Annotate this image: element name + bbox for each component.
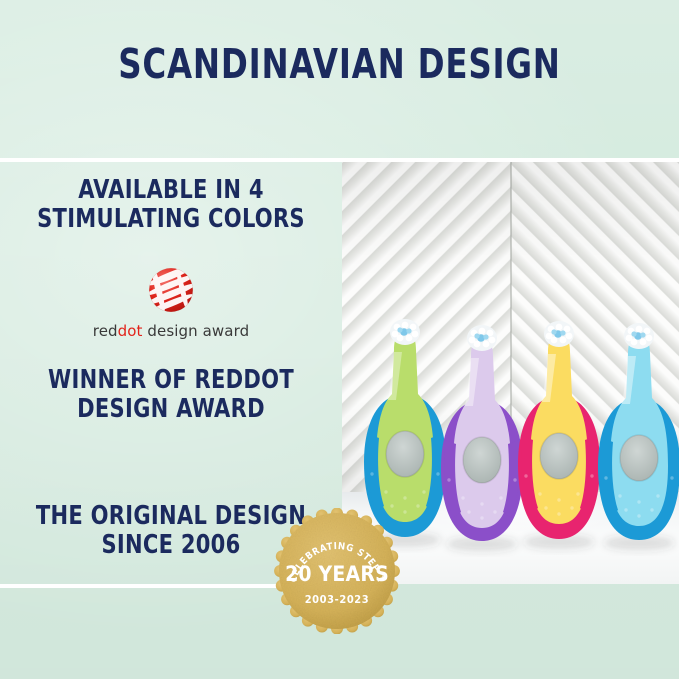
title-band: SCANDINAVIAN DESIGN: [0, 0, 679, 158]
reddot-wordmark: reddot design award: [0, 322, 342, 340]
lightblue-blue-toothbrush: [598, 323, 679, 550]
award-heading: WINNER OF REDDOT DESIGN AWARD: [17, 366, 325, 425]
award-heading-line2: DESIGN AWARD: [17, 395, 325, 424]
anniversary-badge: CELEBRATING STEP 1 20 YEARS 2003-2023: [274, 508, 400, 634]
reddot-wordmark-rest: design award: [143, 322, 250, 340]
colors-heading-line1: AVAILABLE IN 4: [17, 176, 325, 205]
lavender-purple-toothbrush: [441, 325, 523, 551]
product-infographic: SCANDINAVIAN DESIGN AVAILABLE IN 4 STIMU…: [0, 0, 679, 679]
page-title: SCANDINAVIAN DESIGN: [41, 44, 639, 85]
reddot-sphere-icon: [145, 264, 197, 316]
reddot-wordmark-dot: dot: [118, 322, 143, 340]
colors-heading: AVAILABLE IN 4 STIMULATING COLORS: [17, 176, 325, 235]
colors-heading-line2: STIMULATING COLORS: [17, 205, 325, 234]
yellow-pink-toothbrush: [518, 321, 600, 549]
badge-date-range: 2003-2023: [305, 593, 370, 606]
badge-years-value: 20 YEARS: [285, 562, 389, 586]
reddot-wordmark-red: red: [93, 322, 118, 340]
reddot-award-block: reddot design award: [0, 264, 342, 340]
award-heading-line1: WINNER OF REDDOT: [17, 366, 325, 395]
